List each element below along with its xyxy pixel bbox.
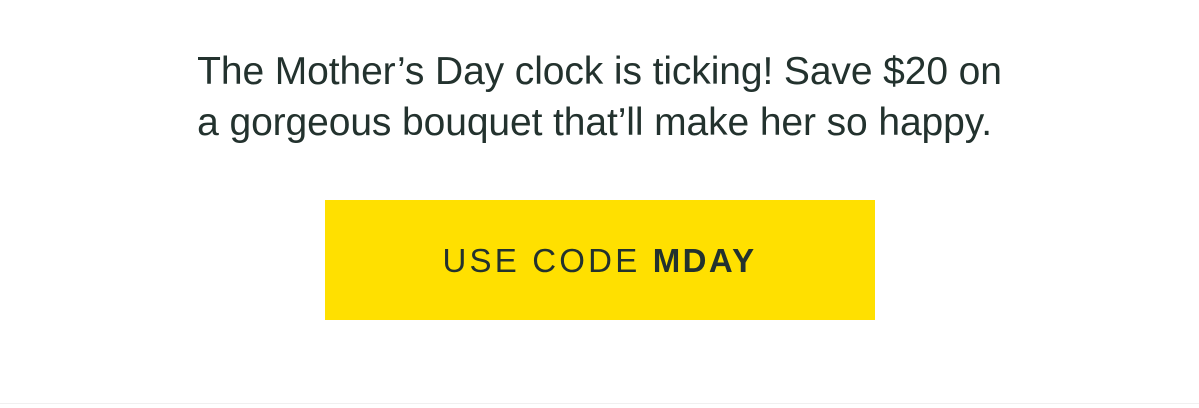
headline-line-2: a gorgeous bouquet that’ll make her so h… xyxy=(197,97,1002,148)
cta-button-label: USE CODE MDAY xyxy=(442,244,756,277)
page-title: The Mother’s Day clock is ticking! Save … xyxy=(197,46,1002,148)
use-code-button[interactable]: USE CODE MDAY xyxy=(325,200,875,320)
bottom-divider xyxy=(0,403,1199,404)
cta-container: USE CODE MDAY xyxy=(0,200,1199,320)
headline-container: The Mother’s Day clock is ticking! Save … xyxy=(0,46,1199,148)
promo-banner: The Mother’s Day clock is ticking! Save … xyxy=(0,0,1199,408)
headline-line-1: The Mother’s Day clock is ticking! Save … xyxy=(197,46,1002,97)
promo-code-text: MDAY xyxy=(653,242,757,279)
cta-prefix-text: USE CODE xyxy=(442,242,652,279)
